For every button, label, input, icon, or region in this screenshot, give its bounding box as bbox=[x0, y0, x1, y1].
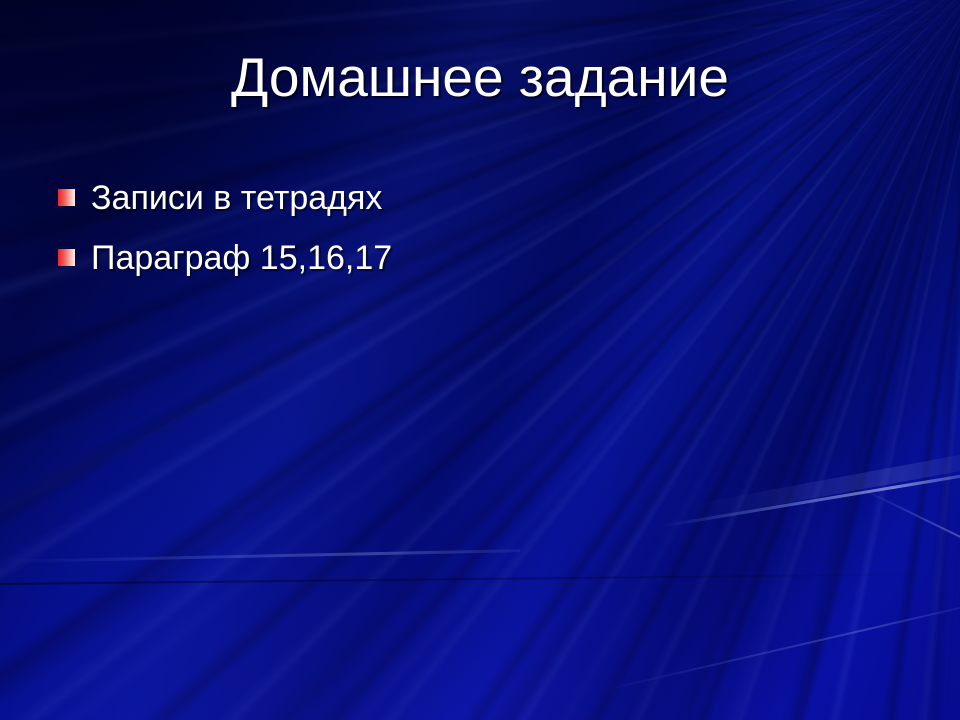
slide-title: Домашнее задание bbox=[0, 48, 960, 107]
presentation-slide: Домашнее задание Записи в тетрадях Параг… bbox=[0, 0, 960, 720]
bullet-list: Записи в тетрадях Параграф 15,16,17 bbox=[58, 176, 838, 296]
list-item: Параграф 15,16,17 bbox=[58, 236, 838, 296]
bullet-item-label: Параграф 15,16,17 bbox=[91, 236, 392, 280]
bullet-item-label: Записи в тетрадях bbox=[91, 176, 382, 220]
slide-content: Домашнее задание Записи в тетрадях Параг… bbox=[0, 0, 960, 720]
bullet-square-icon bbox=[58, 249, 75, 266]
list-item: Записи в тетрадях bbox=[58, 176, 838, 236]
bullet-square-icon bbox=[58, 189, 75, 206]
